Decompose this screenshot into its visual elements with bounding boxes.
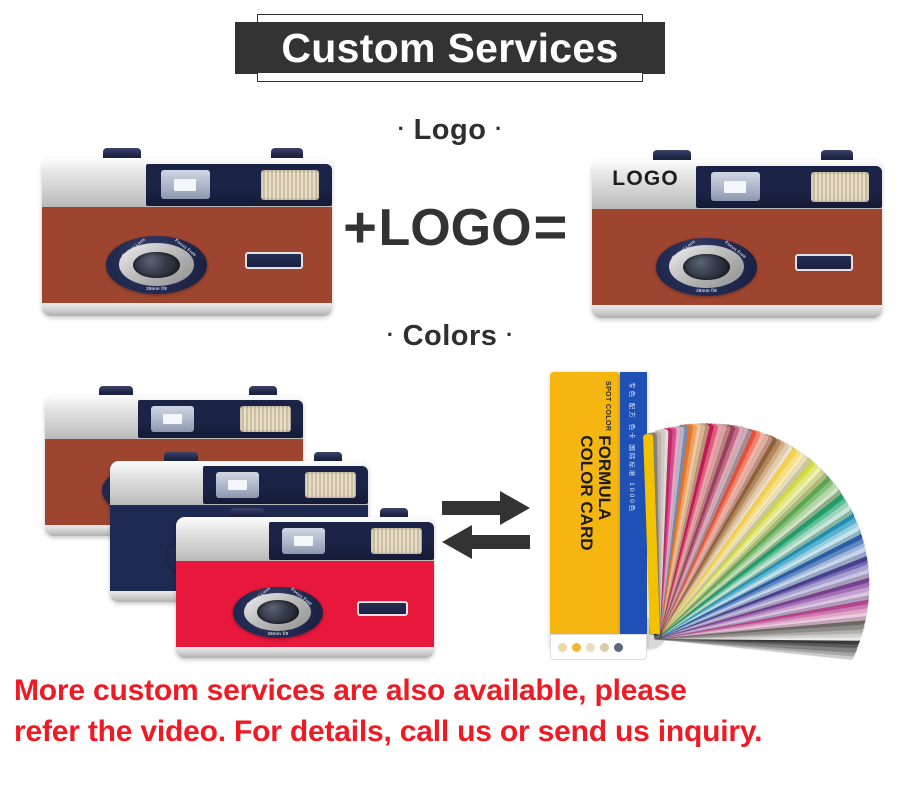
camera-viewfinder-strip	[146, 164, 332, 207]
footer-note-line-2: refer the video. For details, call us or…	[14, 711, 894, 752]
fan-footer-swatch	[614, 643, 623, 652]
label-dot-left: ·	[398, 116, 405, 141]
fan-cover-title-line2: COLOR CARD	[577, 435, 596, 550]
logo-equation: + LOGO =	[335, 196, 575, 260]
camera-color-red: Optical Lens Focus Free 28mm f/8	[176, 508, 434, 658]
fan-footer-swatch	[558, 643, 567, 652]
section-label-logo-text: Logo	[414, 114, 487, 146]
camera-bottom-plate	[592, 305, 882, 318]
label-dot-left: ·	[387, 322, 394, 347]
label-dot-right: ·	[506, 322, 513, 347]
fan-cover-subtitle: SPOT COLOR	[604, 381, 611, 431]
camera-without-logo: Optical Lens Focus Free 28mm f/8	[42, 148, 332, 316]
lens-glass	[133, 252, 180, 279]
fan-spine: 专色 配方 色卡 国际标准 1000色	[620, 372, 647, 650]
page-title-banner: Custom Services	[0, 12, 900, 84]
equals-symbol: =	[534, 199, 567, 257]
fan-spine-text: 专色 配方 色卡 国际标准 1000色	[620, 372, 647, 650]
lens-text-focal: 28mm f/8	[696, 288, 717, 293]
camera-bottom-plate	[176, 647, 434, 658]
film-counter-window	[795, 254, 853, 270]
fan-cover-title-line1: FORMULA	[595, 435, 614, 520]
plus-symbol: +	[343, 199, 376, 257]
camera-lens: Optical Lens Focus Free 28mm f/8	[233, 587, 323, 639]
flash-window-icon	[811, 172, 869, 202]
title-rule-bottom	[257, 73, 643, 82]
camera-body: Optical Lens Focus Free 28mm f/8	[592, 209, 882, 305]
viewfinder-window-icon	[151, 406, 194, 432]
lens-text-focal: 28mm f/8	[146, 286, 167, 291]
film-counter-window	[357, 601, 409, 616]
flash-window-icon	[371, 528, 422, 555]
viewfinder-window-icon	[711, 172, 759, 201]
fan-footer-swatch	[586, 643, 595, 652]
title-box: Custom Services	[235, 22, 665, 74]
page-title: Custom Services	[281, 28, 618, 69]
camera-bottom-plate	[42, 303, 332, 316]
camera-lens: Optical Lens Focus Free 28mm f/8	[106, 236, 208, 294]
fan-footer-swatch	[600, 643, 609, 652]
camera-body: Optical Lens Focus Free 28mm f/8	[42, 207, 332, 303]
lens-glass	[683, 254, 730, 281]
fan-cover: SPOT COLOR FORMULA COLOR CARD	[550, 372, 620, 650]
camera-viewfinder-strip	[203, 466, 368, 504]
section-label-colors: · Colors ·	[0, 320, 900, 353]
camera-viewfinder-strip	[269, 522, 434, 560]
flash-window-icon	[240, 406, 291, 433]
camera-body: Optical Lens Focus Free 28mm f/8	[176, 561, 434, 647]
camera-viewfinder-strip	[696, 166, 882, 209]
section-label-logo: · Logo ·	[0, 114, 900, 147]
logo-word: LOGO	[378, 202, 531, 254]
camera-viewfinder-strip	[138, 400, 303, 438]
section-label-colors-text: Colors	[403, 320, 498, 352]
viewfinder-window-icon	[282, 528, 325, 554]
viewfinder-window-icon	[216, 472, 259, 498]
camera-logo-text: LOGO	[612, 168, 679, 189]
label-dot-right: ·	[495, 116, 502, 141]
camera-with-logo: LOGO Optical Lens Focus Free 28mm f/8	[592, 150, 882, 318]
film-counter-window	[245, 252, 303, 268]
fan-footer-swatches	[550, 634, 647, 660]
fan-footer-swatch	[572, 643, 581, 652]
flash-window-icon	[261, 170, 319, 200]
double-arrow-icon	[438, 485, 534, 565]
camera-lens: Optical Lens Focus Free 28mm f/8	[656, 238, 758, 296]
lens-text-focal: 28mm f/8	[268, 631, 289, 636]
color-fan-deck: SPOT COLOR FORMULA COLOR CARD 专色 配方 色卡 国…	[524, 362, 896, 662]
flash-window-icon	[305, 472, 356, 499]
lens-glass	[257, 600, 299, 624]
footer-note: More custom services are also available,…	[14, 670, 894, 753]
viewfinder-window-icon	[161, 170, 209, 199]
footer-note-line-1: More custom services are also available,…	[14, 670, 894, 711]
